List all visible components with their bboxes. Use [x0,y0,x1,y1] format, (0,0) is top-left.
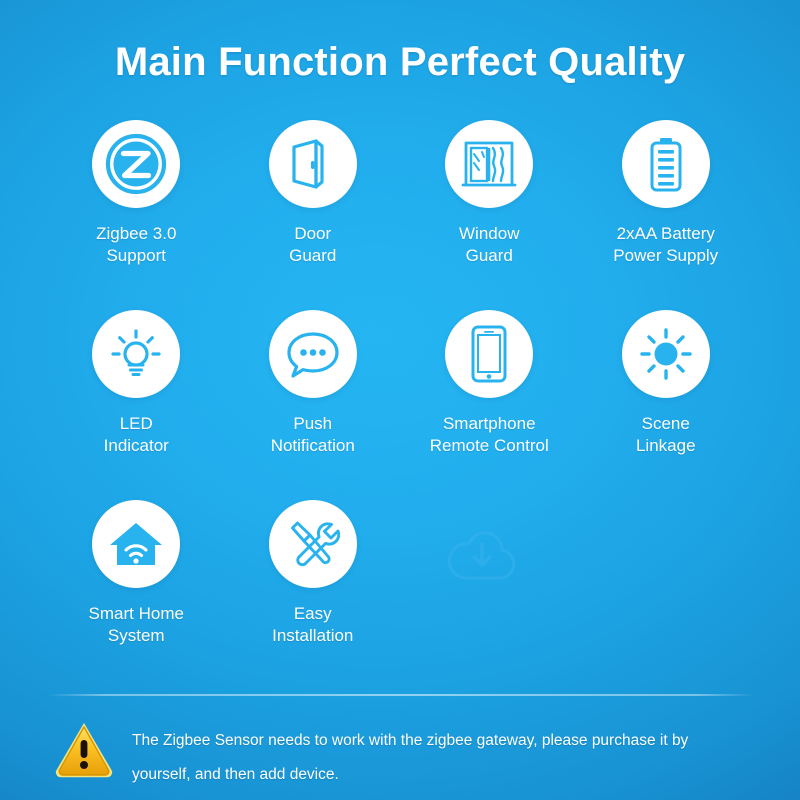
footer-divider [48,694,754,696]
feature-item-battery[interactable]: 2xAA Battery Power Supply [578,120,755,310]
feature-label: Push Notification [271,413,355,457]
feature-item-empty [578,500,755,690]
feature-row: Smart Home System Easy Installation [48,500,754,690]
footer-note-text: The Zigbee Sensor needs to work with the… [120,714,696,792]
wrench-screwdriver-icon [269,500,357,588]
infographic-page: Main Function Perfect Quality Zigbee 3.0… [0,0,800,800]
battery-icon [622,120,710,208]
feature-item-smartphone-remote[interactable]: Smartphone Remote Control [401,310,578,500]
warning-triangle-icon [48,714,120,786]
smartphone-icon [445,310,533,398]
feature-row: LED Indicator Push Notification [48,310,754,500]
feature-label: Zigbee 3.0 Support [96,223,176,267]
feature-label: Window Guard [459,223,519,267]
window-curtain-icon [445,120,533,208]
feature-item-smart-home[interactable]: Smart Home System [48,500,225,690]
feature-item-window-guard[interactable]: Window Guard [401,120,578,310]
house-wifi-icon [92,500,180,588]
feature-item-easy-installation[interactable]: Easy Installation [225,500,402,690]
feature-label: Smartphone Remote Control [430,413,549,457]
feature-label: Easy Installation [272,603,353,647]
speech-bubble-dots-icon [269,310,357,398]
feature-row: Zigbee 3.0 Support Door Guard [48,120,754,310]
zigbee-logo-icon [92,120,180,208]
feature-item-empty [401,500,578,690]
feature-item-push-notification[interactable]: Push Notification [225,310,402,500]
feature-label: Smart Home System [89,603,184,647]
feature-item-led-indicator[interactable]: LED Indicator [48,310,225,500]
sun-brightness-icon [622,310,710,398]
feature-item-zigbee[interactable]: Zigbee 3.0 Support [48,120,225,310]
page-title: Main Function Perfect Quality [0,40,800,85]
feature-label: Scene Linkage [636,413,696,457]
feature-label: 2xAA Battery Power Supply [613,223,718,267]
feature-label: Door Guard [289,223,336,267]
lightbulb-icon [92,310,180,398]
footer-note: The Zigbee Sensor needs to work with the… [48,714,754,792]
feature-item-door-guard[interactable]: Door Guard [225,120,402,310]
open-door-icon [269,120,357,208]
feature-item-scene-linkage[interactable]: Scene Linkage [578,310,755,500]
feature-grid: Zigbee 3.0 Support Door Guard [48,120,754,690]
feature-label: LED Indicator [104,413,169,457]
